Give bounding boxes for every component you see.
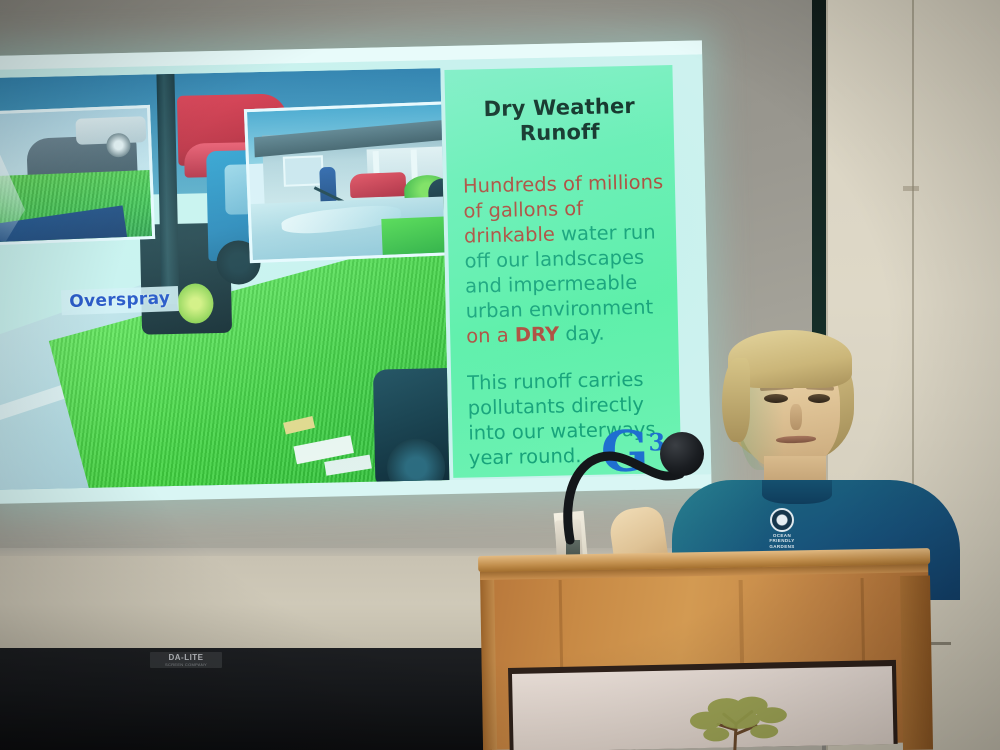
presenter-eye-right [808,394,830,403]
ocean-friendly-gardens-emblem-icon [770,508,794,532]
slide-p1-end: day. [559,322,605,346]
presenter-eye-left [764,394,788,403]
da-lite-brand-sub: SCREEN COMPANY [165,662,207,667]
ocean-friendly-gardens-line-1: OCEAN FRIENDLY [760,533,804,543]
da-lite-brand-name: DA-LITE [168,654,203,662]
inset2-red-car [350,172,407,198]
slide-p1-tail: on a [466,324,515,348]
screen-baseboard [0,648,492,750]
inset2-lawn [381,215,449,255]
da-lite-brand-badge: DA-LITE SCREEN COMPANY [150,652,222,668]
inset-photo-sprinkler [0,105,155,246]
projection-screen: Overspray Dry Weather Runoff Hundreds of… [0,40,712,504]
podium-right-edge [900,575,933,749]
slide-title: Dry Weather Runoff [445,93,674,148]
tree-artwork-icon [659,688,810,750]
ocean-friendly-gardens-line-2: GARDENS [760,544,804,549]
slide-paragraph-1: Hundreds of millions of gallons of drink… [463,169,679,349]
slide-p1-emphasis: DRY [515,323,560,347]
microphone-head-icon [660,432,704,476]
inset2-window [283,155,324,187]
inset-photo-driveway [244,101,449,263]
slide-title-line-2: Runoff [446,118,674,148]
overspray-label: Overspray [61,286,179,315]
ocean-friendly-gardens-logo: OCEAN FRIENDLY GARDENS [760,508,804,538]
presenter-shirt-collar [762,480,832,504]
right-wall-mark [903,186,919,191]
projected-slide: Overspray Dry Weather Runoff Hundreds of… [0,54,711,490]
presenter-nose [790,404,802,430]
slide-photo-collage: Overspray [0,68,449,490]
photo-scene: Overspray Dry Weather Runoff Hundreds of… [0,0,1000,750]
presenter-hair-side [722,358,750,442]
